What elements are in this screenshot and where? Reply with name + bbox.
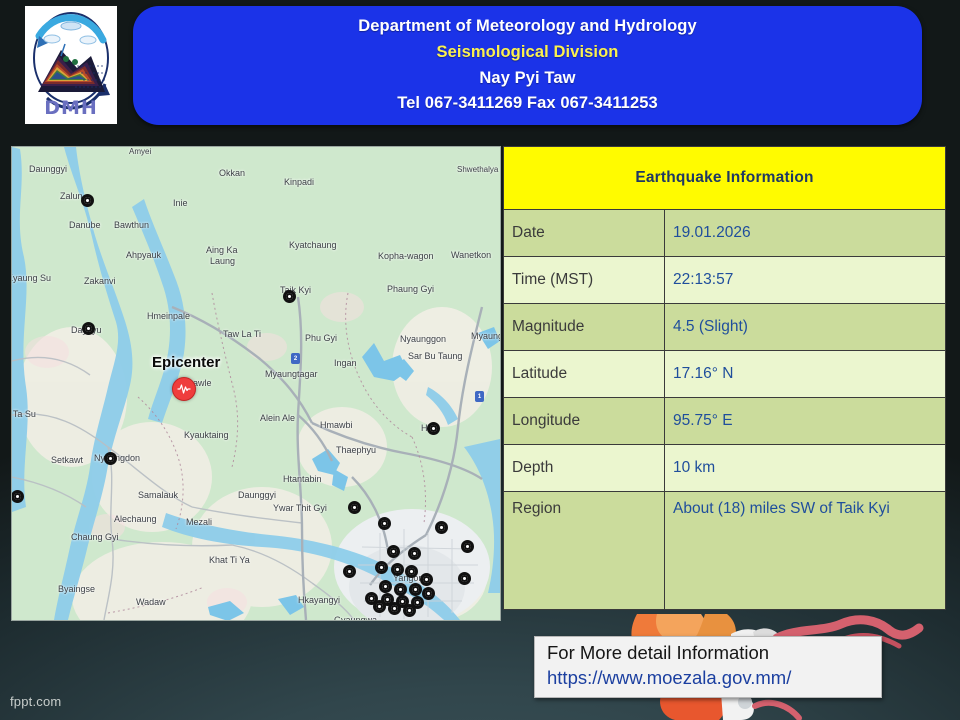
station-marker-icon[interactable]: [378, 517, 391, 530]
table-row-magnitude: Magnitude 4.5 (Slight): [504, 304, 946, 351]
header-line-city: Nay Pyi Taw: [479, 67, 575, 91]
more-info-caption: For More detail Information: [547, 641, 871, 666]
station-marker-icon[interactable]: [435, 521, 448, 534]
station-marker-icon[interactable]: [427, 422, 440, 435]
epicenter-marker-icon[interactable]: [172, 377, 196, 401]
row-label-magnitude: Magnitude: [504, 304, 665, 351]
row-value-depth: 10 km: [665, 445, 946, 492]
dmh-logo-text: DMH: [44, 97, 98, 119]
station-marker-icon[interactable]: [283, 290, 296, 303]
table-row-depth: Depth 10 km: [504, 445, 946, 492]
table-row-date: Date 19.01.2026: [504, 210, 946, 257]
highway-shield-icon: 1: [475, 391, 484, 402]
station-marker-icon[interactable]: [405, 565, 418, 578]
earthquake-info-table: Earthquake Information Date 19.01.2026 T…: [503, 146, 946, 610]
highway-shield-icon: 2: [291, 353, 300, 364]
station-marker-icon[interactable]: [391, 563, 404, 576]
table-row-longitude: Longitude 95.75° E: [504, 398, 946, 445]
row-value-longitude: 95.75° E: [665, 398, 946, 445]
row-value-time: 22:13:57: [665, 257, 946, 304]
row-label-time: Time (MST): [504, 257, 665, 304]
station-marker-icon[interactable]: [348, 501, 361, 514]
header-banner: Department of Meteorology and Hydrology …: [133, 6, 922, 125]
seismograph-wave-icon: [177, 382, 191, 396]
row-value-latitude: 17.16° N: [665, 351, 946, 398]
more-info-box[interactable]: For More detail Information https://www.…: [534, 636, 882, 698]
more-info-url[interactable]: https://www.moezala.gov.mm/: [547, 666, 871, 691]
epicenter-map[interactable]: DaunggyiAmyeiOkkanKinpadiShwethalyaZalun…: [11, 146, 501, 621]
station-marker-icon[interactable]: [373, 600, 386, 613]
station-marker-icon[interactable]: [11, 490, 24, 503]
station-marker-icon[interactable]: [420, 573, 433, 586]
map-basemap: [12, 147, 500, 620]
station-marker-icon[interactable]: [458, 572, 471, 585]
fppt-watermark: fppt.com: [10, 694, 61, 709]
station-marker-icon[interactable]: [81, 194, 94, 207]
station-marker-icon[interactable]: [388, 602, 401, 615]
table-row-region: Region About (18) miles SW of Taik Kyi: [504, 492, 946, 610]
table-title-row: Earthquake Information: [504, 147, 946, 210]
station-marker-icon[interactable]: [343, 565, 356, 578]
header-line-department: Department of Meteorology and Hydrology: [358, 15, 697, 39]
station-marker-icon[interactable]: [104, 452, 117, 465]
table-row-time: Time (MST) 22:13:57: [504, 257, 946, 304]
row-label-latitude: Latitude: [504, 351, 665, 398]
epicenter-label: Epicenter: [152, 354, 220, 371]
station-marker-icon[interactable]: [422, 587, 435, 600]
row-label-depth: Depth: [504, 445, 665, 492]
row-label-date: Date: [504, 210, 665, 257]
header-line-division: Seismological Division: [437, 41, 619, 65]
station-marker-icon[interactable]: [387, 545, 400, 558]
header-line-contact: Tel 067-3411269 Fax 067-3411253: [397, 92, 658, 116]
row-value-magnitude: 4.5 (Slight): [665, 304, 946, 351]
dmh-logo-icon: DMH: [25, 6, 117, 124]
station-marker-icon[interactable]: [375, 561, 388, 574]
row-label-region: Region: [504, 492, 665, 610]
table-row-latitude: Latitude 17.16° N: [504, 351, 946, 398]
station-marker-icon[interactable]: [379, 580, 392, 593]
table-title: Earthquake Information: [504, 147, 946, 210]
dmh-logo: DMH: [25, 6, 117, 124]
row-value-region: About (18) miles SW of Taik Kyi: [665, 492, 946, 610]
station-marker-icon[interactable]: [408, 547, 421, 560]
row-label-longitude: Longitude: [504, 398, 665, 445]
row-value-date: 19.01.2026: [665, 210, 946, 257]
slide-canvas: DMH Department of Meteorology and Hydrol…: [0, 0, 960, 720]
station-marker-icon[interactable]: [461, 540, 474, 553]
station-marker-icon[interactable]: [403, 604, 416, 617]
station-marker-icon[interactable]: [409, 583, 422, 596]
station-marker-icon[interactable]: [82, 322, 95, 335]
station-marker-icon[interactable]: [394, 583, 407, 596]
